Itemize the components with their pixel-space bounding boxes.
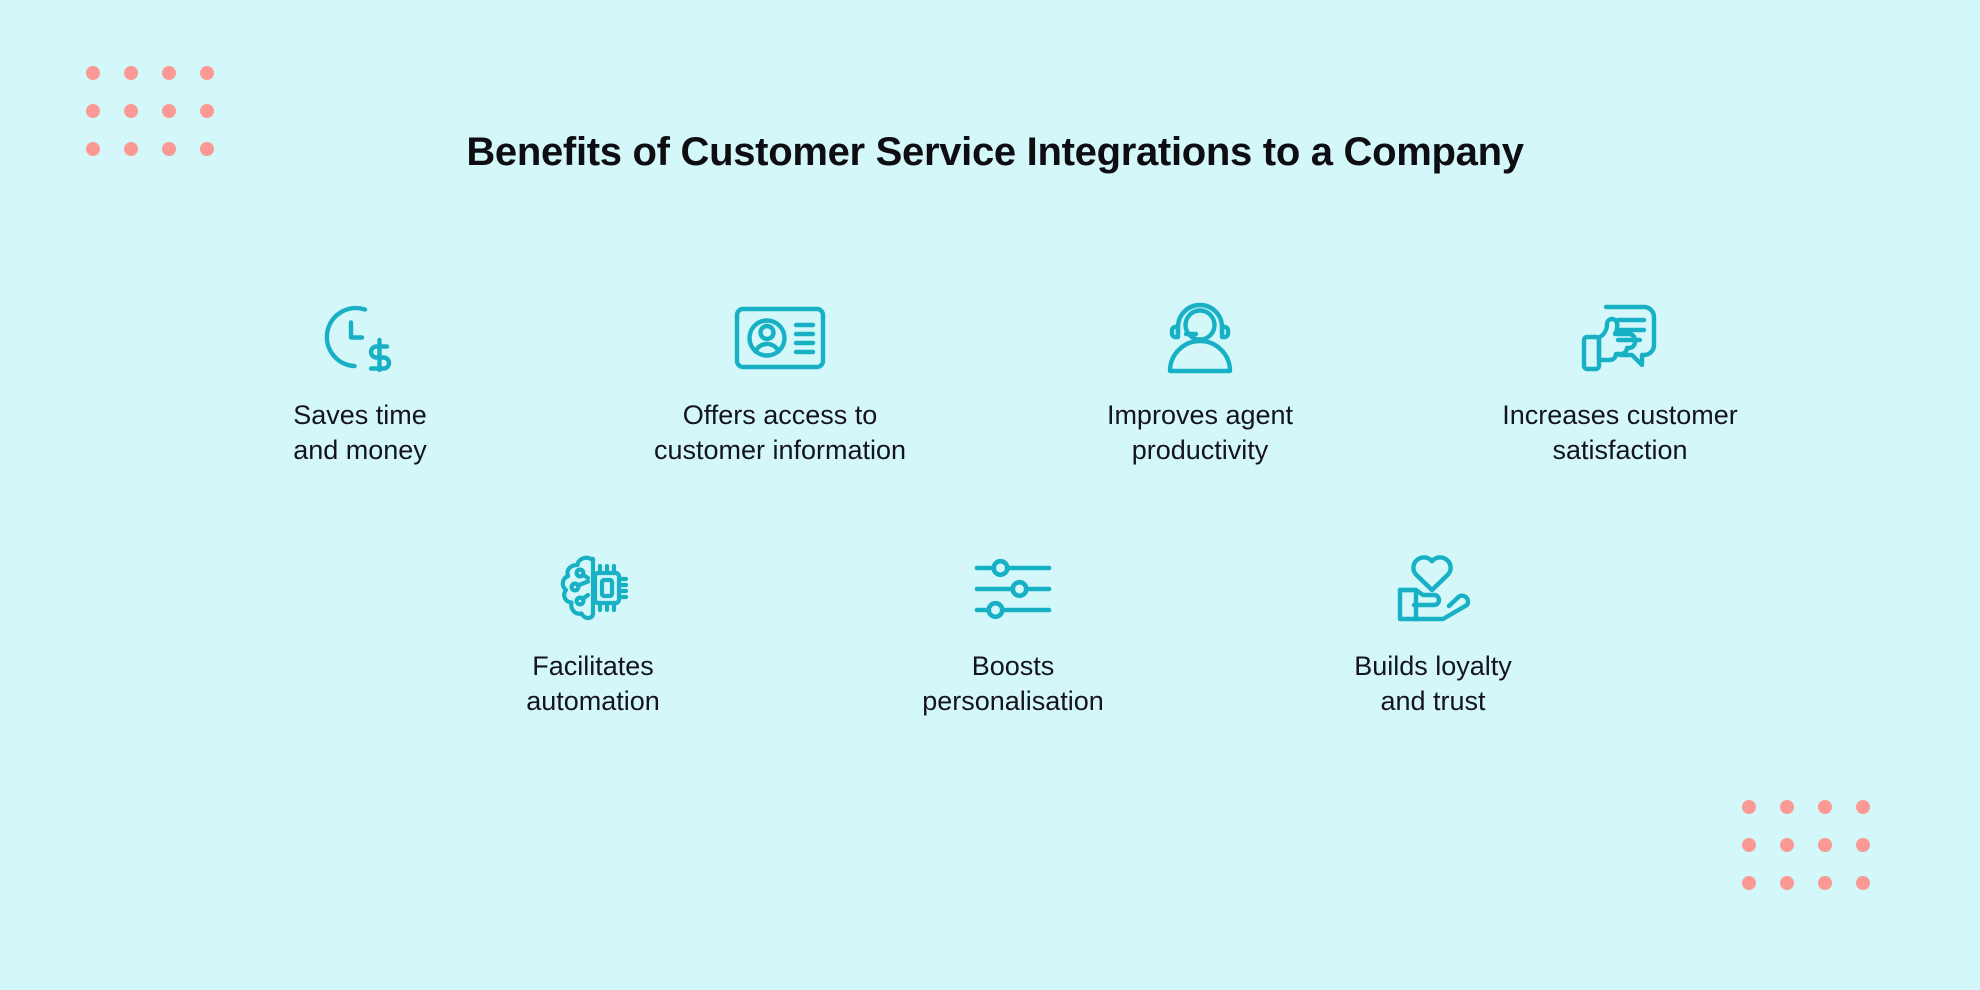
benefits-section: Saves time and money Offers access to cu… [0,300,1980,718]
dot [162,66,176,80]
benefit-offers-access-to-customer-information: Offers access to customer information [570,300,990,467]
benefit-label: Increases customer satisfaction [1502,398,1738,467]
dot [1780,800,1794,814]
dot [124,104,138,118]
dot [86,104,100,118]
brain-circuit-icon [555,551,631,627]
clock-dollar-icon [321,300,399,376]
heart-in-hand-icon [1394,551,1472,627]
dot [86,66,100,80]
page-title-container: Benefits of Customer Service Integration… [0,128,1980,176]
dot [1742,876,1756,890]
benefit-builds-loyalty-and-trust: Builds loyalty and trust [1223,551,1643,718]
benefit-label: Boosts personalisation [922,649,1104,718]
dot-grid-bottom-right [1742,800,1894,914]
benefit-label: Builds loyalty and trust [1354,649,1512,718]
benefit-saves-time-and-money: Saves time and money [150,300,570,467]
dot [200,66,214,80]
dot [1818,800,1832,814]
headset-agent-icon [1162,300,1238,376]
sliders-icon [973,551,1053,627]
dot [1818,876,1832,890]
benefit-label: Saves time and money [293,398,427,467]
benefit-label: Facilitates automation [526,649,660,718]
benefit-label: Offers access to customer information [654,398,906,467]
benefits-row-2: Facilitates automation Boosts personalis… [0,551,1980,718]
dot [200,104,214,118]
dot [1818,838,1832,852]
dot [1856,800,1870,814]
dot [1780,876,1794,890]
benefit-label: Improves agent productivity [1107,398,1293,467]
dot [1856,876,1870,890]
dot [1780,838,1794,852]
page-title: Benefits of Customer Service Integration… [10,128,1980,176]
benefit-boosts-personalisation: Boosts personalisation [803,551,1223,718]
dot [1742,800,1756,814]
thumbs-up-message-icon [1580,300,1660,376]
dot [1856,838,1870,852]
id-card-person-icon [734,300,826,376]
dot [124,66,138,80]
benefit-improves-agent-productivity: Improves agent productivity [990,300,1410,467]
dot [1742,838,1756,852]
benefit-facilitates-automation: Facilitates automation [383,551,803,718]
benefit-increases-customer-satisfaction: Increases customer satisfaction [1410,300,1830,467]
benefits-row-1: Saves time and money Offers access to cu… [0,300,1980,467]
dot [162,104,176,118]
